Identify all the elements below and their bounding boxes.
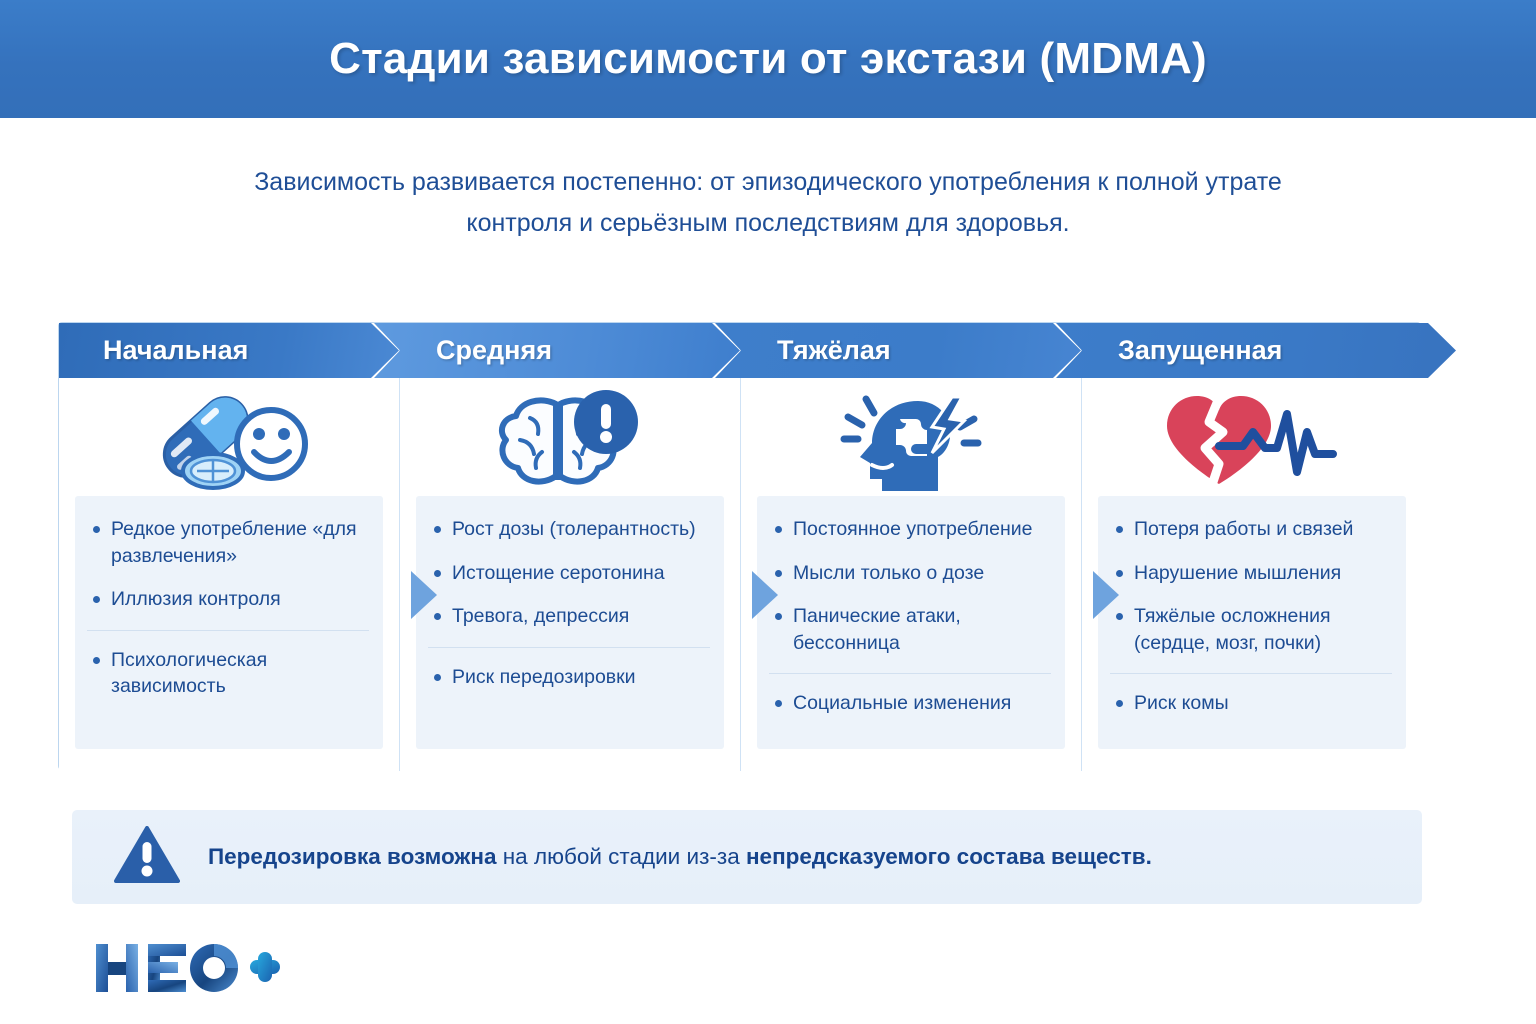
stage-label-2: Средняя [436,335,552,366]
broken-heart-ecg-icon [1082,378,1422,496]
bullet-list-2: Рост дозы (толерантность) Истощение серо… [428,516,710,690]
bullet-list-3: Постоянное употребление Мысли только о д… [769,516,1051,717]
bullet-list-1: Редкое употребление «для развлечения» Ил… [87,516,369,700]
stage-connector-arrow-2 [752,571,778,619]
list-item: Тревога, депрессия [428,603,710,630]
list-item: Редкое употребление «для развлечения» [87,516,369,569]
list-item: Панические атаки, бессонница [769,603,1051,656]
brand-logo[interactable] [92,938,282,1005]
stage-header-3: Тяжёлая [715,323,1081,378]
list-item: Тяжёлые осложнения (сердце, мозг, почки) [1110,603,1392,656]
head-puzzle-lightning-icon [741,378,1081,496]
warning-banner: Передозировка возможна на любой стадии и… [72,810,1422,904]
stage-label-4: Запущенная [1118,335,1282,366]
stage-header-4: Запущенная [1056,323,1456,378]
list-item: Потеря работы и связей [1110,516,1392,543]
list-item: Постоянное употребление [769,516,1051,543]
list-item: Иллюзия контроля [87,586,369,613]
stage-header-2: Средняя [374,323,740,378]
brain-alert-icon [400,378,740,496]
bullets-panel-1: Редкое употребление «для развлечения» Ил… [75,496,383,749]
stage-connector-arrow-3 [1093,571,1119,619]
stage-card-3[interactable]: Тяжёлая [741,323,1082,771]
warning-bold-end: непредсказуемого состава веществ. [746,844,1152,869]
list-item: Риск комы [1110,673,1392,717]
bullets-panel-2: Рост дозы (толерантность) Истощение серо… [416,496,724,749]
warning-triangle-icon [114,826,180,889]
pills-smiley-icon [59,378,399,496]
subtitle-block: Зависимость развивается постепенно: от э… [198,162,1338,243]
stage-header-1: Начальная [59,323,399,378]
list-item: Мысли только о дозе [769,560,1051,587]
stage-card-1[interactable]: Начальная [59,323,400,771]
list-item: Риск передозировки [428,647,710,691]
bullet-list-4: Потеря работы и связей Нарушение мышлени… [1110,516,1392,717]
warning-text: Передозировка возможна на любой стадии и… [208,842,1152,871]
list-item: Психологическая зависимость [87,630,369,700]
list-item: Истощение серотонина [428,560,710,587]
page-header: Стадии зависимости от экстази (MDMA) [0,0,1536,118]
stages-row: Начальная [59,323,1422,771]
subtitle-text: Зависимость развивается постепенно: от э… [198,162,1338,243]
list-item: Социальные изменения [769,673,1051,717]
stage-label-3: Тяжёлая [777,335,891,366]
page-title: Стадии зависимости от экстази (MDMA) [329,34,1207,84]
stage-label-1: Начальная [103,335,248,366]
bullets-panel-4: Потеря работы и связей Нарушение мышлени… [1098,496,1406,749]
stage-card-4[interactable]: Запущенная Потеря работы и связей Наруше… [1082,323,1422,771]
bullets-panel-3: Постоянное употребление Мысли только о д… [757,496,1065,749]
stage-card-2[interactable]: Средняя [400,323,741,771]
stage-connector-arrow-1 [411,571,437,619]
stages-frame: Начальная [58,322,1421,770]
list-item: Нарушение мышления [1110,560,1392,587]
warning-bold-start: Передозировка возможна [208,844,497,869]
warning-middle: на любой стадии из-за [497,844,746,869]
list-item: Рост дозы (толерантность) [428,516,710,543]
